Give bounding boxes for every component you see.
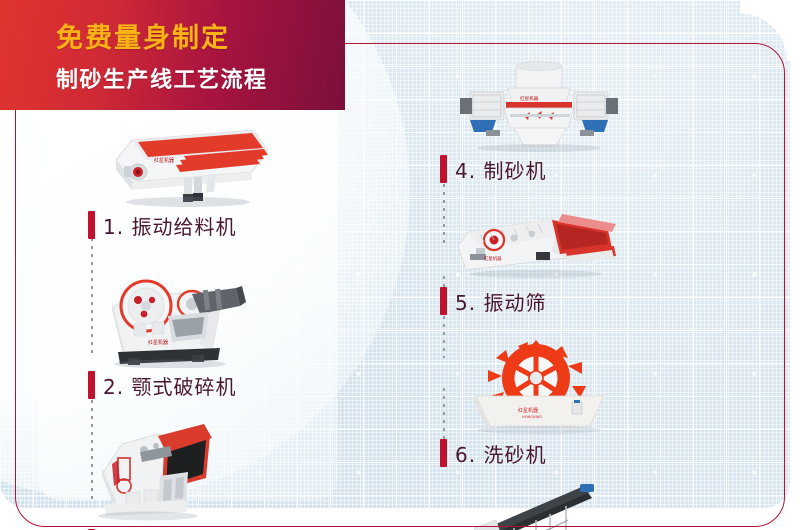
jaw-crusher-image: 红星机器	[88, 256, 388, 368]
accent-bar-icon	[88, 371, 95, 399]
step-5-vibrating-screen[interactable]: 红星机器 5. 振动筛	[440, 212, 740, 318]
step-4-label: 4. 制砂机	[455, 155, 546, 184]
belt-conveyor-image	[440, 484, 740, 530]
svg-text:HONGXING: HONGXING	[522, 415, 542, 419]
accent-bar-icon	[88, 211, 95, 239]
step-5-label: 5. 振动筛	[455, 287, 546, 316]
step-6-label-row: 6. 洗砂机	[440, 436, 740, 470]
svg-text:红星机器: 红星机器	[518, 407, 538, 414]
svg-text:红星机器: 红星机器	[520, 95, 539, 102]
step-2-label: 2. 颚式破碎机	[103, 371, 236, 400]
vibrating-screen-icon: 红星机器	[440, 212, 640, 284]
belt-conveyor-icon	[440, 484, 640, 530]
svg-text:红星机器: 红星机器	[484, 255, 502, 262]
sand-making-machine-image: 红星机器	[440, 58, 740, 152]
impact-crusher-icon	[88, 416, 288, 526]
sand-washer-image: 红星机器 HONGXING	[440, 340, 740, 436]
sand-making-machine-icon: 红星机器	[440, 58, 640, 152]
step-7-belt-conveyor[interactable]: 7. 输送机	[440, 484, 740, 530]
step-1-label-row: 1. 振动给料机	[88, 208, 388, 242]
step-1-vibrating-feeder[interactable]: 红星机器 1. 振动给料机	[88, 116, 388, 242]
vibrating-screen-image: 红星机器	[440, 212, 740, 284]
infographic-canvas: 免费量身制定 制砂生产线工艺流程	[0, 0, 800, 530]
step-2-jaw-crusher[interactable]: 红星机器 2. 颚式破碎机	[88, 256, 388, 402]
step-4-label-row: 4. 制砂机	[440, 152, 740, 186]
accent-bar-icon	[440, 155, 447, 183]
vibrating-feeder-image: 红星机器	[88, 116, 388, 208]
header-banner: 免费量身制定 制砂生产线工艺流程	[0, 0, 345, 110]
step-3-impact-crusher[interactable]: 3. 反击式破碎机	[88, 416, 388, 530]
right-process-column: 红星机器 4. 制砂机	[440, 44, 740, 530]
step-6-label: 6. 洗砂机	[455, 439, 546, 468]
vibrating-feeder-icon: 红星机器	[88, 116, 288, 208]
jaw-crusher-icon: 红星机器	[88, 256, 288, 368]
banner-headline: 免费量身制定	[56, 16, 230, 55]
accent-bar-icon	[440, 439, 447, 467]
step-2-label-row: 2. 颚式破碎机	[88, 368, 388, 402]
step-4-sand-making-machine[interactable]: 红星机器 4. 制砂机	[440, 58, 740, 186]
step-5-label-row: 5. 振动筛	[440, 284, 740, 318]
impact-crusher-image	[88, 416, 388, 526]
banner-subhead: 制砂生产线工艺流程	[56, 62, 268, 94]
svg-text:红星机器: 红星机器	[148, 339, 168, 346]
sand-washer-icon: 红星机器 HONGXING	[440, 340, 640, 436]
panel-corner-mask	[740, 0, 800, 60]
accent-bar-icon	[440, 287, 447, 315]
left-process-column: 红星机器 1. 振动给料机	[88, 116, 388, 530]
step-1-label: 1. 振动给料机	[103, 211, 236, 240]
svg-text:红星机器: 红星机器	[154, 157, 174, 164]
step-6-sand-washer[interactable]: 红星机器 HONGXING 6. 洗砂机	[440, 340, 740, 470]
step-3-label-row: 3. 反击式破碎机	[88, 526, 388, 530]
